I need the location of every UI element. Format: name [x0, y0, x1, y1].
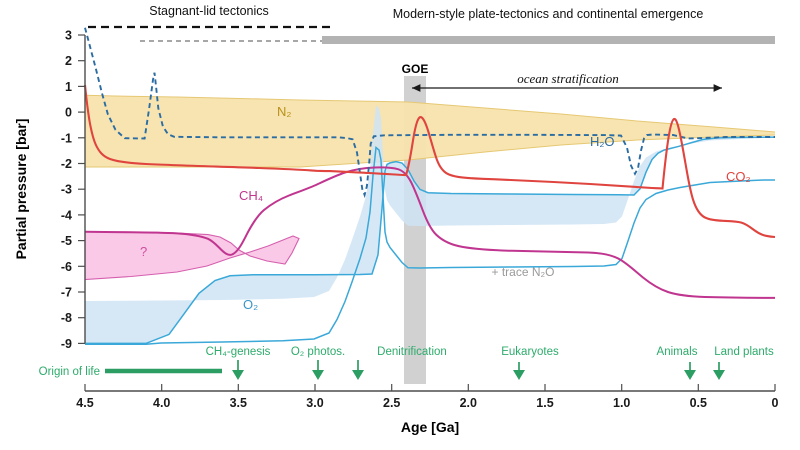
- event-ch4-genesis: CH₄-genesis: [206, 346, 271, 380]
- x-axis: 4.5 4.0 3.5 3.0 2.5 2.0 1.5 1.0 0.5 0: [76, 384, 778, 410]
- y-tick-m2: -2: [61, 157, 72, 171]
- y-tick-m7: -7: [61, 286, 72, 300]
- x-tick-3-0: 3.0: [306, 396, 323, 410]
- ocean-stratification-label: ocean stratification: [517, 71, 618, 86]
- x-tick-4-0: 4.0: [153, 396, 170, 410]
- event-o2-photosynthesis-label: O₂ photos.: [291, 346, 345, 358]
- y-tick-1: 1: [65, 80, 72, 94]
- x-tick-2-5: 2.5: [383, 396, 400, 410]
- event-animals: Animals: [657, 346, 698, 380]
- y-tick-m4: -4: [61, 208, 72, 222]
- y-tick-3: 3: [65, 29, 72, 43]
- y-tick-m3: -3: [61, 183, 72, 197]
- y-tick-m5: -5: [61, 234, 72, 248]
- ch4-series-label: CH₄: [239, 188, 263, 203]
- x-tick-0-5: 0.5: [690, 396, 707, 410]
- n2-band: [85, 95, 775, 167]
- atmosphere-evolution-chart: Stagnant-lid tectonics Modern-style plat…: [0, 0, 800, 450]
- y-tick-m8: -8: [61, 311, 72, 325]
- era-bars: [88, 27, 775, 44]
- y-axis: 3 2 1 0 -1 -2 -3 -4 -5 -6 -7 -8 -9: [61, 29, 85, 351]
- ch4-line: [85, 167, 775, 298]
- event-denitrification-label: Denitrification: [377, 346, 447, 358]
- stagnant-lid-label: Stagnant-lid tectonics: [149, 4, 269, 18]
- y-tick-m9: -9: [61, 337, 72, 351]
- n2-series-label: N₂: [277, 104, 291, 119]
- co2-series-label: CO₂: [726, 169, 751, 184]
- unknown-series-label: ?: [140, 244, 147, 259]
- event-ch4-genesis-label: CH₄-genesis: [206, 346, 271, 358]
- x-axis-title: Age [Ga]: [401, 419, 459, 435]
- event-land-plants: Land plants: [713, 346, 774, 380]
- x-tick-0: 0: [772, 396, 779, 410]
- x-tick-3-5: 3.5: [230, 396, 247, 410]
- event-o2-photosynthesis: O₂ photos.: [291, 346, 345, 380]
- modern-plate-tectonics-bar: [322, 36, 775, 44]
- event-denitrification: Denitrification: [352, 346, 447, 380]
- trace-n2o-label: + trace N₂O: [491, 265, 554, 279]
- event-animals-label: Animals: [657, 346, 698, 358]
- event-eukaryotes: Eukaryotes: [501, 346, 559, 380]
- o2-series-label: O₂: [243, 297, 258, 312]
- y-tick-m1: -1: [61, 131, 72, 145]
- x-tick-1-5: 1.5: [536, 396, 553, 410]
- y-tick-0: 0: [65, 106, 72, 120]
- unknown-band: [85, 232, 299, 280]
- event-origin-of-life: Origin of life: [39, 366, 100, 378]
- event-land-plants-label: Land plants: [714, 346, 774, 358]
- h2o-series-label: H₂O: [590, 134, 615, 149]
- event-eukaryotes-label: Eukaryotes: [501, 346, 559, 358]
- modern-plate-tectonics-label: Modern-style plate-tectonics and contine…: [393, 7, 704, 21]
- figure-root: Stagnant-lid tectonics Modern-style plat…: [0, 0, 800, 450]
- x-tick-1-0: 1.0: [613, 396, 630, 410]
- x-tick-2-0: 2.0: [460, 396, 477, 410]
- x-tick-4-5: 4.5: [76, 396, 93, 410]
- goe-label: GOE: [402, 62, 429, 76]
- y-tick-m6: -6: [61, 260, 72, 274]
- y-axis-title: Partial pressure [bar]: [13, 119, 29, 260]
- y-tick-2: 2: [65, 54, 72, 68]
